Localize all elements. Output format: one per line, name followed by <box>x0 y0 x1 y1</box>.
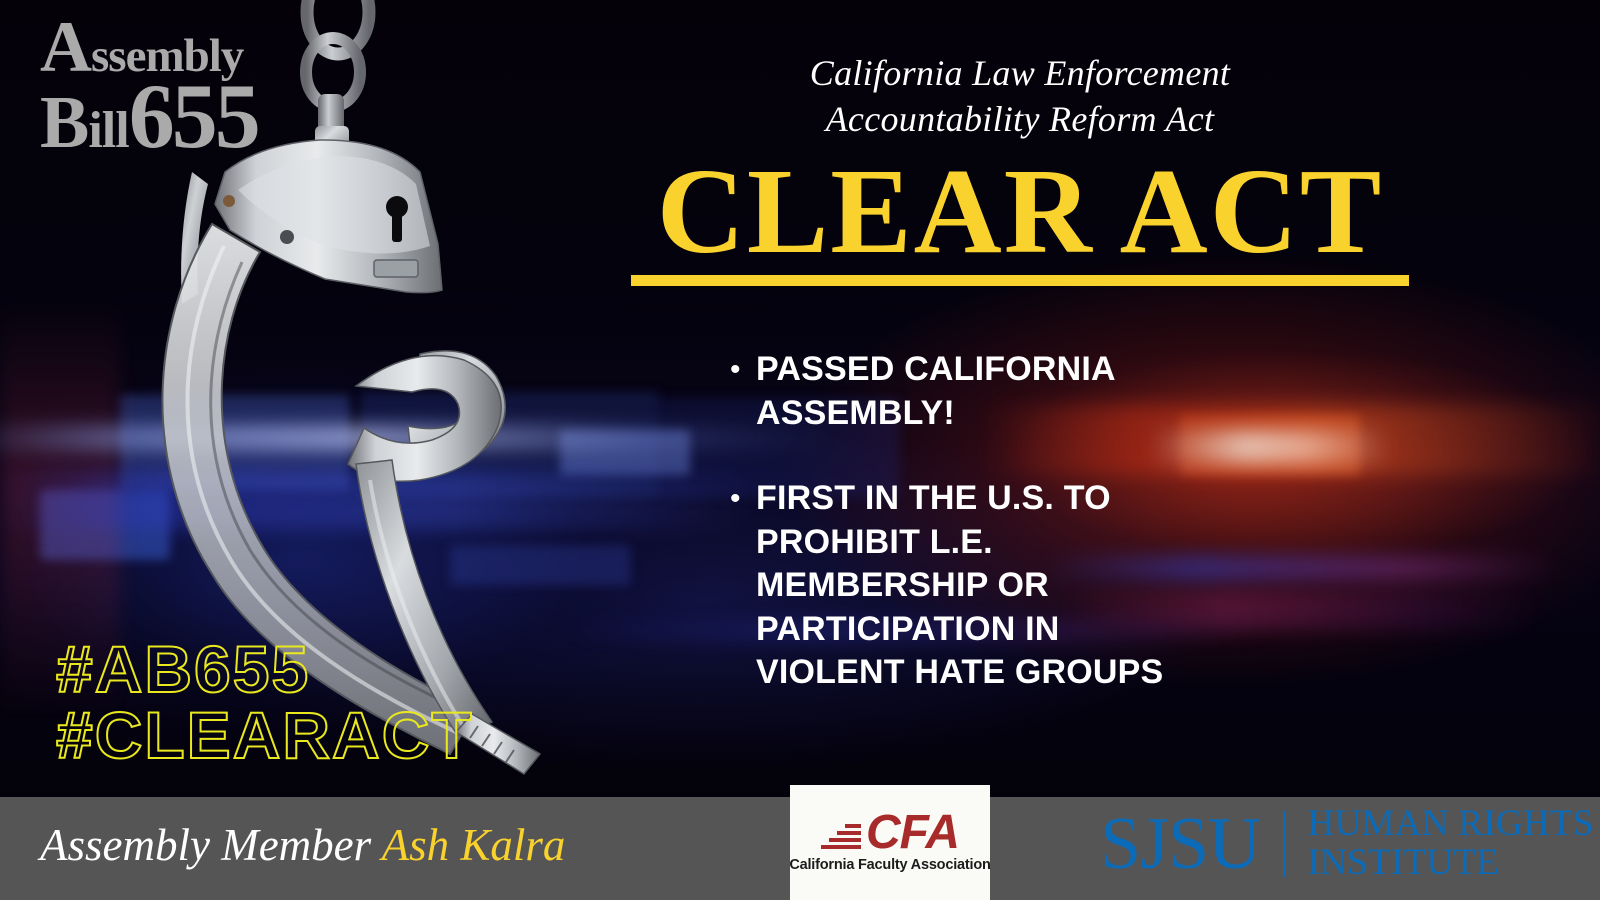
poster-subtitle: California Law Enforcement Accountabilit… <box>620 50 1420 142</box>
hashtag-block: #AB655 #CLEARACT <box>56 636 474 768</box>
headline-block: California Law Enforcement Accountabilit… <box>620 50 1420 286</box>
sjsu-unit-name: HUMAN RIGHTS INSTITUTE <box>1308 805 1594 883</box>
assembly-bill-logo: Assembly Bill655 <box>40 18 258 154</box>
cfa-logo: CFA California Faculty Association <box>790 785 990 900</box>
list-item: • PASSED CALIFORNIA ASSEMBLY! <box>730 348 1290 435</box>
cfa-acronym: CFA <box>866 812 959 854</box>
chain-link <box>306 0 369 138</box>
sjsu-divider <box>1283 811 1286 877</box>
logo-letter-a: A <box>40 7 91 87</box>
clear-act-poster: Assembly Bill655 California Law Enforcem… <box>0 0 1600 900</box>
page-title: CLEAR ACT <box>620 156 1420 268</box>
cfa-full-name: California Faculty Association <box>789 857 990 873</box>
logo-bill-number: 655 <box>129 65 258 167</box>
list-item-text: PASSED CALIFORNIA ASSEMBLY! <box>756 348 1116 435</box>
hashtag-clearact: #CLEARACT <box>56 702 474 768</box>
footer-bar: Assembly Member Ash Kalra CFA California… <box>0 797 1600 900</box>
cfa-stairs-icon <box>821 824 861 855</box>
hashtag-ab655: #AB655 <box>56 636 474 702</box>
logo-letter-b: B <box>40 82 88 164</box>
bullet-point-icon: • <box>730 477 756 521</box>
assembly-member-prefix: Assembly Member <box>40 820 382 870</box>
bullet-list: • PASSED CALIFORNIA ASSEMBLY! • FIRST IN… <box>730 348 1290 737</box>
sjsu-logo: SJSU HUMAN RIGHTS INSTITUTE <box>1100 805 1594 883</box>
list-item-text: FIRST IN THE U.S. TO PROHIBIT L.E. MEMBE… <box>756 477 1163 695</box>
list-item: • FIRST IN THE U.S. TO PROHIBIT L.E. MEM… <box>730 477 1290 695</box>
bullet-point-icon: • <box>730 348 756 392</box>
assembly-bill-logo-line2: Bill655 <box>40 79 258 154</box>
assembly-member-credit: Assembly Member Ash Kalra <box>40 819 565 871</box>
assembly-member-name: Ash Kalra <box>382 820 566 870</box>
sjsu-acronym: SJSU <box>1100 811 1261 878</box>
logo-word-bill: ill <box>88 102 128 159</box>
cfa-mark: CFA <box>821 812 959 854</box>
